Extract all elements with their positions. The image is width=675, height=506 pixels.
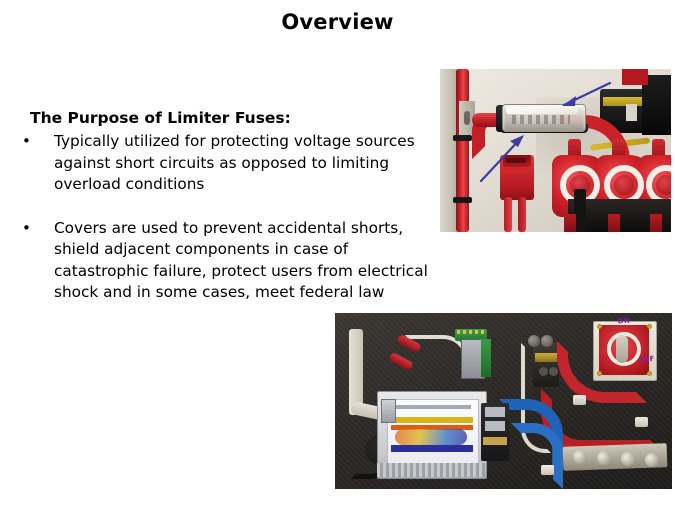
photo-shunt-bolt xyxy=(621,452,635,466)
photo-breaker-hub xyxy=(656,175,671,195)
photo-shunt-bolt xyxy=(645,453,659,467)
photo-fuse-terminal xyxy=(485,421,505,431)
photo-vertical-red-cable xyxy=(456,69,469,232)
photo-switch-screw xyxy=(647,324,652,329)
photo-shunt-bolt xyxy=(597,451,611,465)
photo-fuse-printed-text xyxy=(512,115,570,124)
bullet-text: Typically utilized for protecting voltag… xyxy=(54,131,432,196)
photo-switch-screw xyxy=(647,371,652,376)
bullet-text: Covers are used to prevent accidental sh… xyxy=(54,218,432,304)
photo-white-label xyxy=(626,104,637,121)
bullet-marker-icon: • xyxy=(20,218,54,240)
photo-shunt-bolt xyxy=(573,450,587,464)
photo-bracket-slot xyxy=(464,111,470,125)
photo-connector-wire xyxy=(504,197,512,232)
photo-switch-screw xyxy=(597,371,602,376)
photo-breaker-leg xyxy=(564,214,576,232)
bullet-marker-icon: • xyxy=(20,131,54,153)
photo-breaker-leg xyxy=(650,214,662,232)
photo-battery-switch-knob xyxy=(616,335,628,363)
photo-white-connector xyxy=(635,417,648,427)
annotation-arrow-icon xyxy=(478,131,528,183)
photo-fuse-terminal xyxy=(485,407,505,417)
list-item: • Covers are used to prevent accidental … xyxy=(20,218,432,304)
photo-switch-screw xyxy=(597,324,602,329)
photo-charger-heatsink xyxy=(377,463,485,477)
annotation-arrow-icon xyxy=(548,81,612,111)
photo-charger-meter xyxy=(381,399,396,423)
photo-breaker-hub xyxy=(614,175,634,195)
list-item: • Typically utilized for protecting volt… xyxy=(20,131,432,196)
lead-heading: The Purpose of Limiter Fuses: xyxy=(30,108,432,129)
photo-cable-clamp xyxy=(453,135,472,141)
photo-connector-wire xyxy=(518,197,526,232)
photo-fuse-link xyxy=(483,437,507,445)
body-text-column: The Purpose of Limiter Fuses: • Typicall… xyxy=(20,108,432,304)
battery-switch-panel-photo: ON OFF xyxy=(335,313,672,489)
photo-blue-battery-cable xyxy=(511,423,563,489)
photo-breaker-leg xyxy=(608,214,620,232)
photo-charger-label-band xyxy=(391,445,473,452)
photo-charger-label-graphic xyxy=(395,429,467,445)
photo-switch-on-label: ON xyxy=(611,316,638,328)
photo-white-connector xyxy=(573,395,586,405)
photo-charger-label-text xyxy=(393,405,471,409)
photo-circuit-board-terminals xyxy=(457,330,485,334)
limiter-fuse-on-panel-photo xyxy=(440,69,671,232)
photo-red-component-top xyxy=(622,69,648,85)
photo-circuit-board-edge xyxy=(481,339,491,377)
photo-white-connector xyxy=(541,465,554,475)
photo-cable-clamp xyxy=(453,197,472,203)
page-title: Overview xyxy=(0,10,675,34)
photo-charger-label-band xyxy=(391,417,473,423)
